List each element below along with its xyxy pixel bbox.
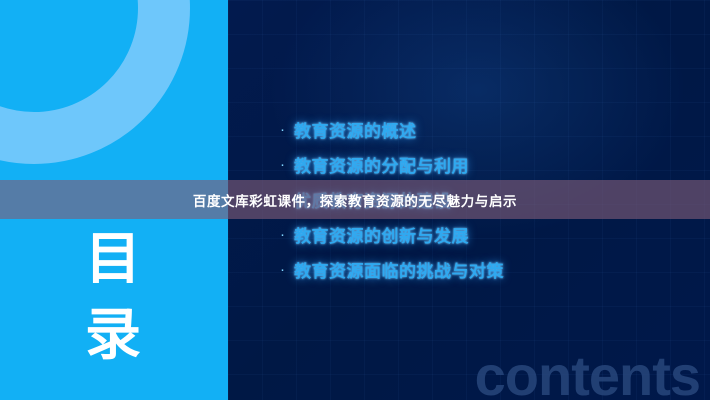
title-banner-overlay: 百度文库彩虹课件，探索教育资源的无尽魅力与启示 <box>0 180 710 219</box>
toc-item-4[interactable]: · 教育资源的创新与发展 <box>280 217 700 252</box>
bullet-icon: · <box>280 122 294 137</box>
heading-char-2: 录 <box>0 298 228 374</box>
heading-char-1: 目 <box>0 222 228 298</box>
toc-item-label: 教育资源的概述 <box>294 117 417 142</box>
presentation-slide: 目 录 · 教育资源的概述 · 教育资源的分配与利用 · 优质教育资源的建设 ·… <box>0 0 710 400</box>
toc-item-label: 教育资源的创新与发展 <box>294 222 469 247</box>
toc-item-5[interactable]: · 教育资源面临的挑战与对策 <box>280 252 700 287</box>
toc-item-2[interactable]: · 教育资源的分配与利用 <box>280 147 700 182</box>
bullet-icon: · <box>280 157 294 172</box>
bullet-icon: · <box>280 227 294 242</box>
bullet-icon: · <box>280 262 294 277</box>
contents-watermark: contents <box>475 343 700 400</box>
toc-item-1[interactable]: · 教育资源的概述 <box>280 112 700 147</box>
ring-decoration-icon <box>0 0 190 164</box>
slide-heading-mulu: 目 录 <box>0 222 228 374</box>
banner-title-text: 百度文库彩虹课件，探索教育资源的无尽魅力与启示 <box>193 190 517 210</box>
toc-item-label: 教育资源面临的挑战与对策 <box>294 257 504 282</box>
toc-item-label: 教育资源的分配与利用 <box>294 152 469 177</box>
